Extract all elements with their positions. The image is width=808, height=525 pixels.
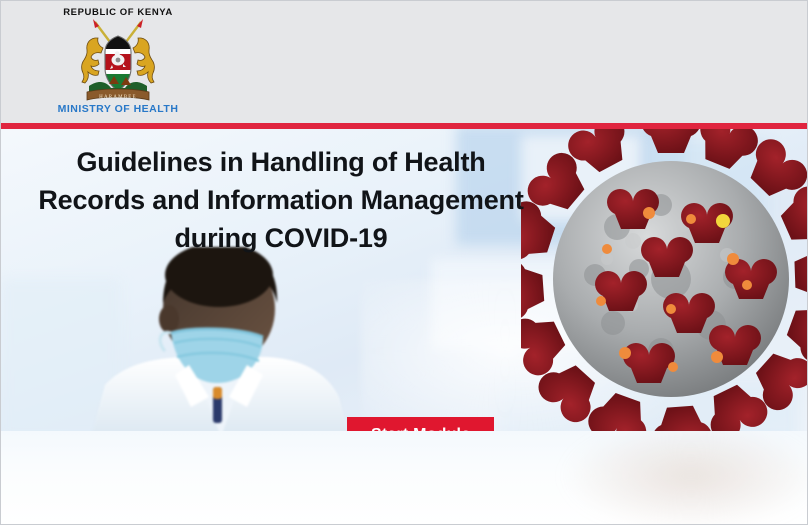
- kenya-coat-of-arms-icon: HARAMBEE: [65, 16, 171, 108]
- hero-banner: Guidelines in Handling of Health Records…: [1, 129, 808, 431]
- title-line-2: Records and Information Management: [1, 181, 561, 219]
- page-header: REPUBLIC OF KENYA: [1, 1, 808, 123]
- coronavirus-illustration: [521, 129, 808, 431]
- coat-of-arms-motto: HARAMBEE: [99, 95, 137, 100]
- health-worker-photo: [71, 247, 391, 431]
- module-cover-page: REPUBLIC OF KENYA: [0, 0, 808, 525]
- kenya-ministry-of-health-logo: REPUBLIC OF KENYA: [63, 3, 173, 121]
- start-module-button[interactable]: Start Module: [347, 417, 494, 431]
- title-line-1: Guidelines in Handling of Health: [1, 143, 561, 181]
- ministry-of-health-label: MINISTRY OF HEALTH: [58, 103, 179, 115]
- title-line-3: during COVID-19: [1, 219, 561, 257]
- page-title: Guidelines in Handling of Health Records…: [1, 143, 561, 257]
- footer-background-wash: [561, 431, 808, 525]
- partner-logo-bar: Malteser International Order of Malta Wo…: [1, 431, 808, 525]
